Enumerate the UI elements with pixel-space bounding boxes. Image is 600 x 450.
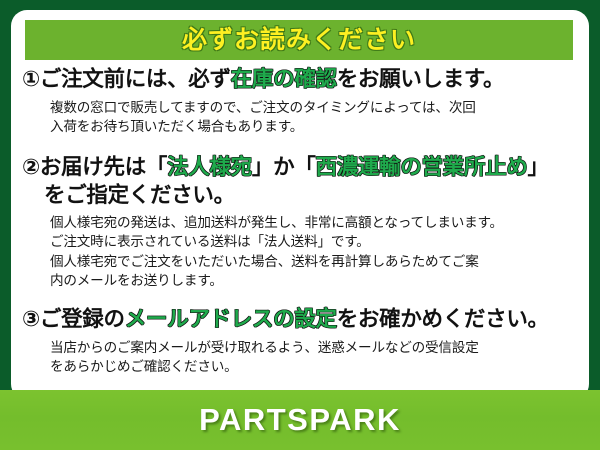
section-2-body: 個人様宅宛の発送は、追加送料が発生し、非常に高額となってしまいます。 ご注文時に… bbox=[22, 213, 579, 290]
section-1-heading-accent: 在庫の確認 bbox=[231, 67, 337, 91]
section-2-heading-post: 」 bbox=[528, 155, 549, 179]
section-3-body-line-2: をあらかじめご確認ください。 bbox=[50, 357, 579, 376]
section-1-heading: ①ご注文前には、必ず在庫の確認をお願いします。 bbox=[22, 66, 579, 94]
notice-section-2: ②お届け先は「法人様宛」か「西濃運輸の営業所止め」 をご指定ください。 個人様宅… bbox=[22, 154, 579, 290]
section-3-body: 当店からのご案内メールが受け取れるよう、迷惑メールなどの受信設定 をあらかじめご… bbox=[22, 338, 579, 377]
section-1-heading-post: をお願いします。 bbox=[337, 67, 504, 91]
section-1-heading-pre: ①ご注文前には、必ず bbox=[22, 67, 231, 91]
section-3-heading-pre: ③ご登録の bbox=[22, 307, 125, 331]
section-1-body-line-2: 入荷をお待ち頂いただく場合もあります。 bbox=[50, 117, 579, 136]
title-bar: 必ずお読みください bbox=[25, 20, 573, 60]
section-2-heading-accent-2: 西濃運輸の営業所止め bbox=[316, 155, 528, 179]
banner-title: 必ずお読みください bbox=[182, 28, 416, 53]
section-2-body-line-3: 個人様宅宛でご注文をいただいた場合、送料を再計算しあらためてご案 bbox=[50, 252, 579, 271]
section-1-body-line-1: 複数の窓口で販売してますので、ご注文のタイミングによっては、次回 bbox=[50, 98, 579, 117]
section-2-heading: ②お届け先は「法人様宛」か「西濃運輸の営業所止め」 をご指定ください。 bbox=[22, 154, 579, 209]
section-2-heading-line-2: をご指定ください。 bbox=[22, 182, 579, 210]
section-2-heading-mid: 」か「 bbox=[252, 155, 316, 179]
section-3-heading-post: をお確かめください。 bbox=[337, 307, 549, 331]
section-2-body-line-4: 内のメールをお送りします。 bbox=[50, 271, 579, 290]
section-3-body-line-1: 当店からのご案内メールが受け取れるよう、迷惑メールなどの受信設定 bbox=[50, 338, 579, 357]
section-2-body-line-1: 個人様宅宛の発送は、追加送料が発生し、非常に高額となってしまいます。 bbox=[50, 213, 579, 232]
section-3-heading: ③ご登録のメールアドレスの設定をお確かめください。 bbox=[22, 306, 579, 334]
section-3-heading-accent: メールアドレスの設定 bbox=[125, 307, 337, 331]
section-2-heading-accent: 法人様宛 bbox=[167, 155, 252, 179]
section-2-body-line-2: ご注文時に表示されている送料は「法人送料」です。 bbox=[50, 232, 579, 251]
brand-logo-text: PARTSPARK bbox=[199, 402, 401, 438]
notice-section-1: ①ご注文前には、必ず在庫の確認をお願いします。 複数の窓口で販売してますので、ご… bbox=[22, 66, 579, 136]
section-2-heading-pre: ②お届け先は「 bbox=[22, 155, 167, 179]
section-1-body: 複数の窓口で販売してますので、ご注文のタイミングによっては、次回 入荷をお待ち頂… bbox=[22, 98, 579, 137]
notice-content: ①ご注文前には、必ず在庫の確認をお願いします。 複数の窓口で販売してますので、ご… bbox=[11, 66, 589, 378]
footer-brand-bar: PARTSPARK bbox=[0, 390, 600, 450]
white-panel: 必ずお読みください ①ご注文前には、必ず在庫の確認をお願いします。 複数の窓口で… bbox=[11, 10, 589, 400]
notice-banner: 必ずお読みください ①ご注文前には、必ず在庫の確認をお願いします。 複数の窓口で… bbox=[0, 0, 600, 450]
notice-section-3: ③ご登録のメールアドレスの設定をお確かめください。 当店からのご案内メールが受け… bbox=[22, 306, 579, 376]
